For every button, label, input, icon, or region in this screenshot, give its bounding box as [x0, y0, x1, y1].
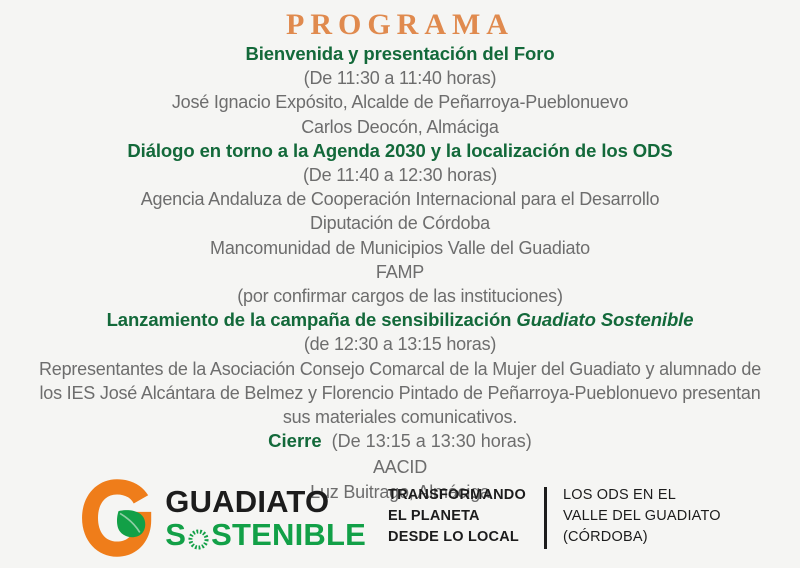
- logo-wordmark: GUADIATO S STENIBLE: [165, 485, 366, 551]
- logo-wordmark-sostenible: S STENIBLE: [165, 518, 366, 551]
- tagline-block: TRANSFORMANDO EL PLANETA DESDE LO LOCAL …: [388, 485, 721, 551]
- tagline-main: TRANSFORMANDO EL PLANETA DESDE LO LOCAL: [388, 485, 526, 551]
- tagline-divider: [544, 487, 547, 549]
- schedule-heading-lanzamiento: Lanzamiento de la campaña de sensibiliza…: [5, 308, 795, 332]
- tagline-line-3: DESDE LO LOCAL: [388, 527, 526, 548]
- schedule-time-bienvenida: (De 11:30 a 11:40 horas): [5, 66, 795, 90]
- logo-wordmark-sostenible-s: S: [165, 518, 186, 551]
- tagline-sub: LOS ODS EN EL VALLE DEL GUADIATO (CÓRDOB…: [563, 485, 721, 551]
- subtagline-line-2: VALLE DEL GUADIATO: [563, 506, 721, 527]
- program-schedule: Bienvenida y presentación del Foro (De 1…: [5, 42, 795, 504]
- schedule-entity-aacid-agencia: Agencia Andaluza de Cooperación Internac…: [5, 187, 795, 211]
- tagline-line-1: TRANSFORMANDO: [388, 485, 526, 506]
- dotted-circle-o-icon: [187, 524, 210, 547]
- schedule-time-lanzamiento: (de 12:30 a 13:15 horas): [5, 332, 795, 356]
- schedule-entity-famp: FAMP: [5, 260, 795, 284]
- schedule-heading-cierre: Cierre (De 13:15 a 13:30 horas): [5, 429, 795, 455]
- subtagline-line-1: LOS ODS EN EL: [563, 485, 721, 506]
- schedule-note-por-confirmar: (por confirmar cargos de las institucion…: [5, 284, 795, 308]
- schedule-time-cierre: (De 13:15 a 13:30 horas): [332, 431, 532, 451]
- campaign-name-italic: Guadiato Sostenible: [516, 309, 693, 330]
- schedule-heading-bienvenida: Bienvenida y presentación del Foro: [5, 42, 795, 66]
- schedule-heading-lanzamiento-text: Lanzamiento de la campaña de sensibiliza…: [107, 309, 517, 330]
- schedule-time-dialogo: (De 11:40 a 12:30 horas): [5, 163, 795, 187]
- schedule-speaker-carlos-deocon: Carlos Deocón, Almáciga: [5, 115, 795, 139]
- schedule-entity-diputacion: Diputación de Córdoba: [5, 211, 795, 235]
- schedule-speaker-jose-ignacio: José Ignacio Expósito, Alcalde de Peñarr…: [5, 90, 795, 114]
- page-title: PROGRAMA: [286, 8, 514, 42]
- schedule-entity-mancomunidad: Mancomunidad de Municipios Valle del Gua…: [5, 236, 795, 260]
- footer-logo-bar: GUADIATO S STENIBLE TRANSFORMANDO EL PLA…: [0, 476, 800, 560]
- subtagline-line-3: (CÓRDOBA): [563, 527, 721, 548]
- logo-wordmark-sostenible-rest: STENIBLE: [211, 518, 366, 551]
- schedule-heading-dialogo: Diálogo en torno a la Agenda 2030 y la l…: [5, 139, 795, 163]
- logo-wordmark-guadiato: GUADIATO: [165, 485, 366, 518]
- schedule-paragraph-representantes: Representantes de la Asociación Consejo …: [30, 357, 770, 430]
- tagline-line-2: EL PLANETA: [388, 506, 526, 527]
- program-poster: PROGRAMA Bienvenida y presentación del F…: [0, 0, 800, 568]
- schedule-cierre-spacer: [322, 431, 332, 451]
- schedule-cierre-label: Cierre: [268, 430, 321, 451]
- guadiato-sostenible-logo-icon: [79, 476, 155, 560]
